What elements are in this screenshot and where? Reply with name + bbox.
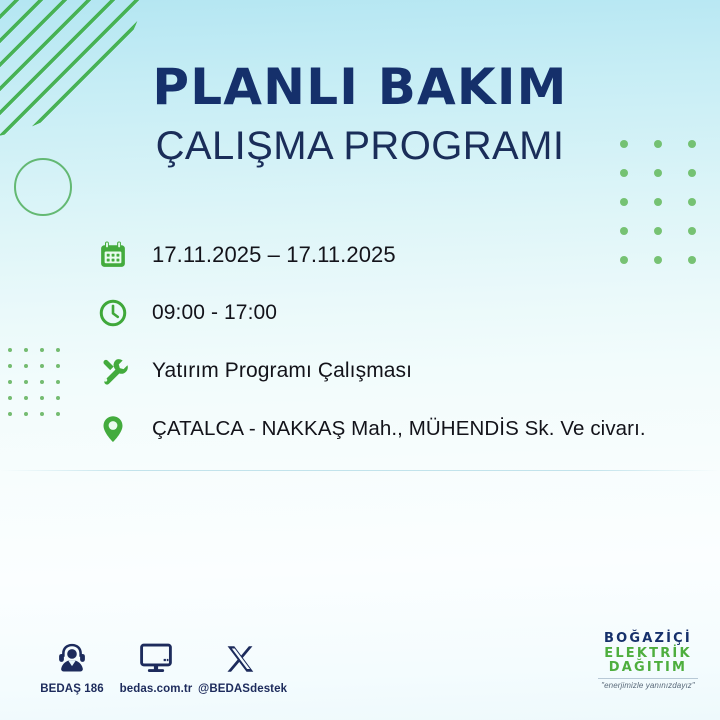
brand-divider	[598, 678, 698, 679]
circle-outline-decoration	[14, 158, 72, 216]
detail-row-location: ÇATALCA - NAKKAŞ Mah., MÜHENDİS Sk. Ve c…	[98, 400, 698, 458]
contact-website-label: bedas.com.tr	[114, 683, 198, 695]
detail-date-text: 17.11.2025 – 17.11.2025	[152, 242, 396, 268]
clock-icon	[98, 298, 144, 328]
contact-website-item[interactable]: bedas.com.tr	[114, 636, 198, 695]
detail-location-text: ÇATALCA - NAKKAŞ Mah., MÜHENDİS Sk. Ve c…	[152, 417, 646, 441]
monitor-icon	[114, 636, 198, 676]
headset-support-icon	[30, 636, 114, 676]
contact-phone-item[interactable]: BEDAŞ 186	[30, 636, 114, 695]
x-twitter-icon	[198, 636, 282, 676]
brand-tagline: "enerjimizle yanınızdayız"	[592, 681, 704, 690]
detail-row-work-type: Yatırım Programı Çalışması	[98, 342, 698, 400]
detail-work-type-text: Yatırım Programı Çalışması	[152, 359, 412, 383]
location-pin-icon	[98, 414, 144, 444]
detail-row-time: 09:00 - 17:00	[98, 284, 698, 342]
tools-icon	[98, 356, 144, 387]
brand-line-dagitim: DAĞITIM	[592, 661, 704, 676]
contact-x-label: @BEDASdestek	[198, 683, 282, 695]
calendar-icon	[98, 240, 144, 270]
footer-contact-links: BEDAŞ 186 bedas.com.tr @BEDASdestek	[30, 636, 282, 695]
brand-line-elektrik: ELEKTRİK	[592, 647, 704, 662]
brand-logo: BOĞAZİÇİ ELEKTRİK DAĞITIM "enerjimizle y…	[592, 632, 704, 690]
page-title: PLANLI BAKIM	[0, 62, 720, 112]
detail-time-text: 09:00 - 17:00	[152, 301, 277, 325]
contact-phone-label: BEDAŞ 186	[30, 683, 114, 695]
page-subtitle: ÇALIŞMA PROGRAMI	[0, 126, 720, 166]
dot-grid-left-decoration	[8, 348, 72, 428]
brand-line-bogazici: BOĞAZİÇİ	[592, 632, 704, 647]
poster-header: PLANLI BAKIM ÇALIŞMA PROGRAMI	[0, 62, 720, 166]
planned-maintenance-poster: PLANLI BAKIM ÇALIŞMA PROGRAMI	[0, 0, 720, 720]
maintenance-details: 17.11.2025 – 17.11.2025 09:00 - 17:00	[98, 226, 698, 458]
horizontal-divider	[0, 470, 720, 471]
contact-x-item[interactable]: @BEDASdestek	[198, 636, 282, 695]
detail-row-date: 17.11.2025 – 17.11.2025	[98, 226, 698, 284]
